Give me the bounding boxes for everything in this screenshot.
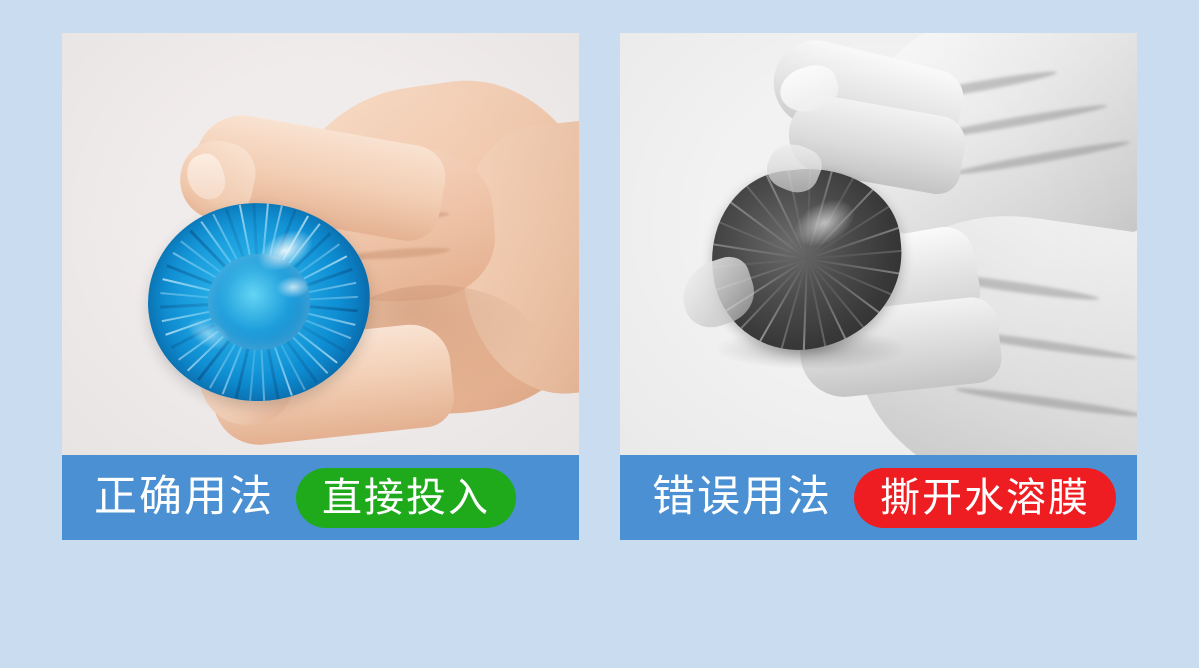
photo-wrong-usage	[620, 33, 1137, 455]
film-fold	[807, 258, 903, 275]
photo-correct-usage	[62, 33, 579, 455]
caption-label-correct: 正确用法	[94, 476, 274, 519]
badge-label-direct-drop: 直接投入	[322, 478, 490, 518]
comparison-stage: 正确用法 直接投入	[0, 0, 1199, 668]
knuckle-crease	[350, 246, 450, 262]
panel-correct-usage: 正确用法 直接投入	[62, 33, 579, 540]
badge-tear-film: 撕开水溶膜	[854, 468, 1116, 528]
hand-crease	[952, 138, 1131, 178]
panel-wrong-usage: 错误用法 撕开水溶膜	[620, 33, 1137, 540]
caption-bar-wrong: 错误用法 撕开水溶膜	[620, 455, 1137, 540]
illustration-hands-tearing-film	[620, 33, 1137, 455]
hand-crease	[955, 385, 1137, 420]
illustration-hand-with-blue-block	[62, 33, 579, 455]
badge-direct-drop: 直接投入	[296, 468, 516, 528]
caption-label-wrong: 错误用法	[652, 476, 832, 519]
caption-bar-correct: 正确用法 直接投入	[62, 455, 579, 540]
badge-label-tear-film: 撕开水溶膜	[880, 478, 1090, 518]
